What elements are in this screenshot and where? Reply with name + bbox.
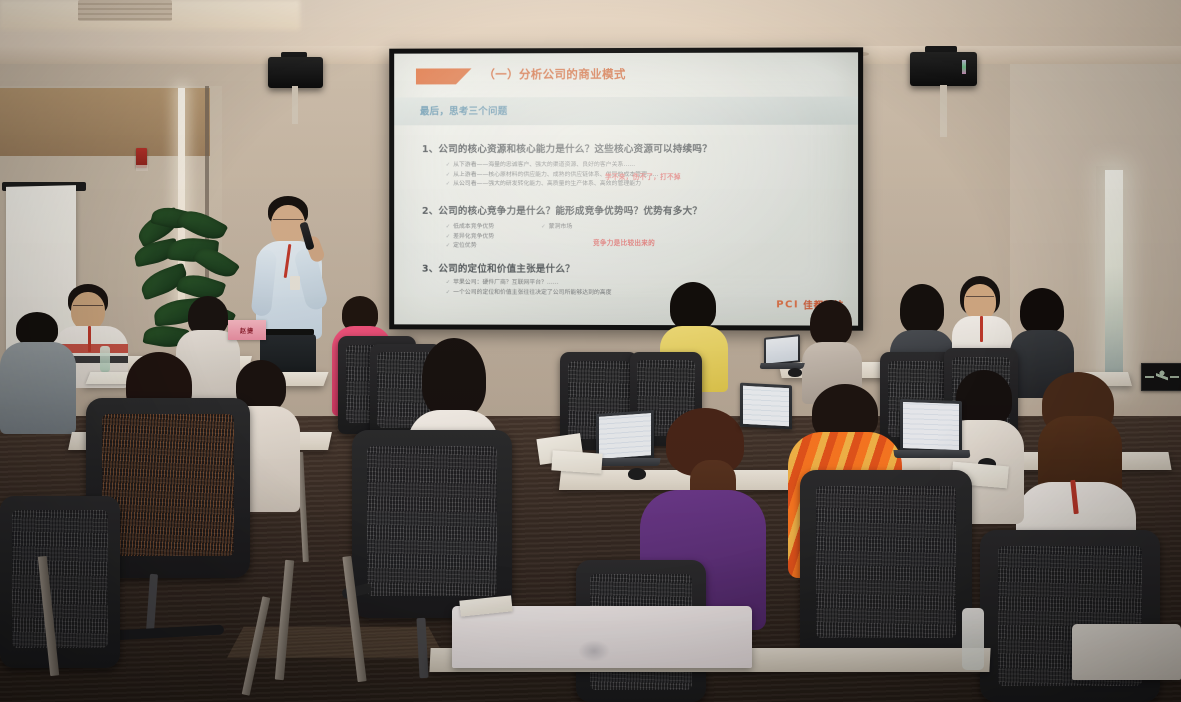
question-text: 公司的核心资源和核心能力是什么？这些核心资源可以持续吗？ — [438, 144, 712, 155]
slide-bullets-2-col2: 蒙洞市场 — [541, 223, 572, 233]
training-room-photo: （一）分析公司的商业模式 最后，思考三个问题 1、公司的核心资源和核心能力是什么… — [0, 0, 1181, 702]
laptop — [900, 399, 962, 453]
speaker-pole — [292, 86, 298, 124]
exit-arrow-right-icon — [1170, 376, 1179, 378]
slide-subhead: 最后，思考三个问题 — [420, 103, 508, 117]
slide-title: （一）分析公司的商业模式 — [483, 66, 625, 82]
question-number: 2、 — [422, 206, 439, 217]
slide-question-1: 1、公司的核心资源和核心能力是什么？这些核心资源可以持续吗？ — [422, 141, 712, 155]
water-bottle — [962, 608, 984, 670]
question-text: 公司的定位和价值主张是什么？ — [438, 264, 574, 275]
slide-question-3: 3、公司的定位和价值主张是什么？ — [422, 261, 575, 275]
paper-sheet — [551, 450, 602, 473]
bullet-item: 一个公司的定位和价值主张往往决定了公司所能够达到的高度 — [446, 288, 612, 298]
ceiling-speaker-icon — [910, 52, 977, 86]
question-text: 公司的核心竞争力是什么？能形成竞争优势吗？优势有多大？ — [438, 206, 702, 217]
window-daylight — [1105, 170, 1123, 385]
bullet-item: 苹果公司：硬件厂商？互联网平台？…… — [446, 279, 612, 289]
laptop — [740, 383, 792, 430]
name-card: 赵捷 — [228, 320, 266, 340]
slide-annotation-2: 竞争力是比较出来的 — [593, 237, 655, 247]
glasses-icon — [966, 296, 994, 301]
speaker-led-indicator — [962, 60, 966, 74]
slide-question-2: 2、公司的核心竞争力是什么？能形成竞争优势吗？优势有多大？ — [422, 203, 702, 217]
mouse — [628, 468, 646, 480]
bullet-item: 差异化竞争优势 — [446, 232, 494, 242]
belt — [262, 329, 314, 335]
slide-content: （一）分析公司的商业模式 最后，思考三个问题 1、公司的核心资源和核心能力是什么… — [394, 52, 858, 325]
bullet-item: 蒙洞市场 — [541, 223, 572, 233]
laptop — [452, 606, 752, 668]
badge — [290, 276, 300, 290]
glasses-icon — [73, 305, 103, 310]
projected-slide: （一）分析公司的商业模式 最后，思考三个问题 1、公司的核心资源和核心能力是什么… — [394, 52, 858, 325]
chair — [0, 496, 120, 702]
wall-trim — [136, 165, 148, 171]
speaker-pole — [940, 85, 947, 137]
question-number: 1、 — [422, 144, 439, 155]
laptop — [1072, 624, 1181, 680]
name-card-text: 赵捷 — [240, 326, 254, 335]
laptop — [596, 410, 654, 462]
slide-title-row: （一）分析公司的商业模式 — [410, 64, 842, 89]
laptop — [764, 334, 800, 366]
projection-screen: （一）分析公司的商业模式 最后，思考三个问题 1、公司的核心资源和核心能力是什么… — [389, 47, 863, 330]
bullet-item: 定位优势 — [446, 242, 494, 252]
title-accent-chip — [416, 68, 472, 84]
ceiling-speaker-icon — [268, 57, 323, 88]
emergency-exit-sign — [1141, 363, 1181, 391]
bullet-item: 低成本竞争优势 — [446, 223, 494, 233]
attendee — [0, 312, 78, 430]
bullet-item: 从公司看——强大的研发转化能力、高质量的生产体系、高效的管理能力 — [446, 180, 659, 190]
laptop-base — [893, 450, 970, 458]
slide-bullets-2: 低成本竞争优势 差异化竞争优势 定位优势 — [446, 223, 494, 252]
bullet-item: 从下游看——海量的忠诚客户、强大的渠道资源、良好的客户关系…… — [446, 161, 659, 171]
ceiling-air-vent — [78, 0, 172, 21]
slide-bullets-3: 苹果公司：硬件厂商？互联网平台？…… 一个公司的定位和价值主张往往决定了公司所能… — [446, 279, 612, 298]
glasses-icon — [273, 219, 303, 224]
logo-mark: PCI — [776, 299, 799, 310]
exit-arrow-left-icon — [1145, 376, 1154, 378]
question-number: 3、 — [422, 264, 439, 275]
mouse — [788, 368, 802, 377]
running-person-icon — [1156, 370, 1168, 384]
laptop-logo — [578, 640, 610, 662]
slide-annotation-1: 学不来，伤不了，打不掉 — [605, 171, 681, 181]
